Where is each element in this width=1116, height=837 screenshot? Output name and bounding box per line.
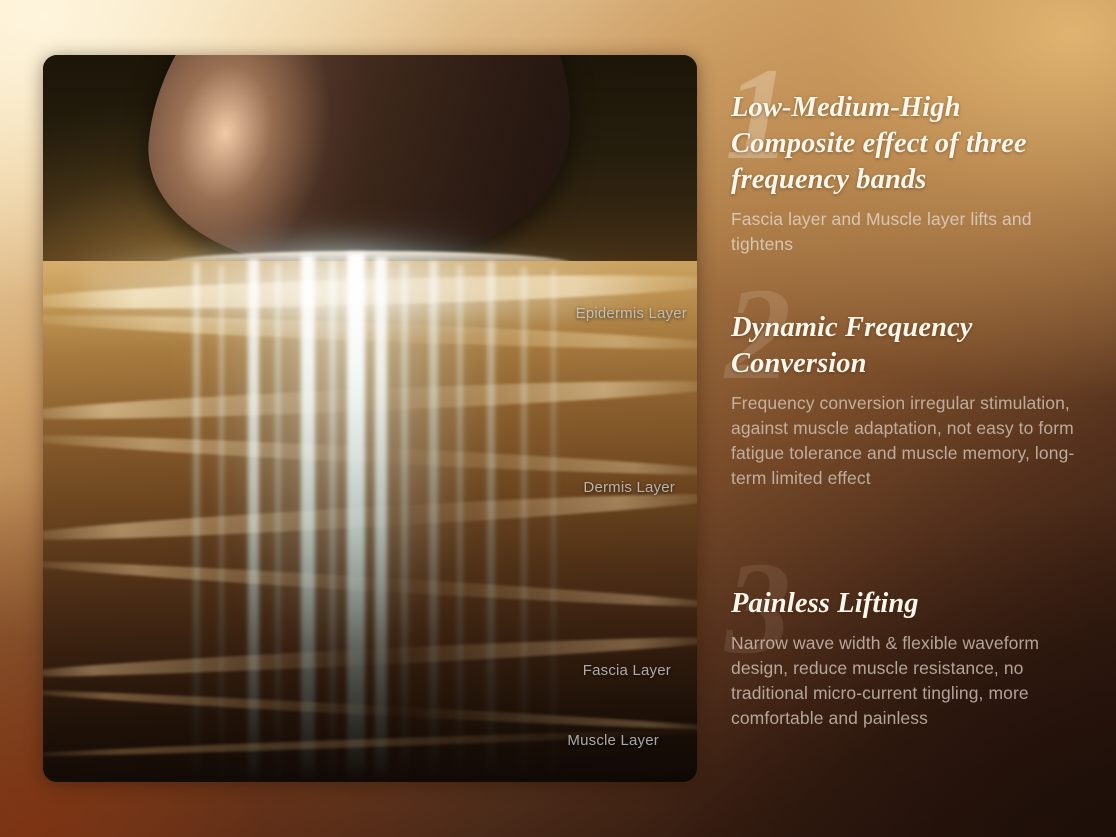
- feature-body-3: Narrow wave width & flexible waveform de…: [731, 631, 1061, 731]
- layer-label-epidermis: Epidermis Layer: [576, 305, 687, 322]
- skin-cross-section-illustration: Epidermis Layer Dermis Layer Fascia Laye…: [43, 55, 697, 782]
- layer-label-fascia: Fascia Layer: [583, 662, 671, 679]
- feature-item-3: 3 Painless Lifting Narrow wave width & f…: [731, 586, 1077, 731]
- feature-item-2: 2 Dynamic Frequency Conversion Frequency…: [731, 310, 1077, 491]
- feature-item-1: 1 Low-Medium-High Composite effect of th…: [731, 90, 1077, 257]
- feature-body-1: Fascia layer and Muscle layer lifts and …: [731, 207, 1077, 257]
- feature-list: 1 Low-Medium-High Composite effect of th…: [731, 0, 1091, 837]
- feature-title-2: Dynamic Frequency Conversion: [731, 310, 1077, 382]
- layer-label-dermis: Dermis Layer: [583, 479, 675, 496]
- feature-title-1: Low-Medium-High Composite effect of thre…: [731, 90, 1077, 198]
- feature-title-3: Painless Lifting: [731, 586, 1077, 622]
- layer-label-muscle: Muscle Layer: [567, 732, 659, 749]
- feature-slide: Epidermis Layer Dermis Layer Fascia Laye…: [0, 0, 1116, 837]
- feature-body-2: Frequency conversion irregular stimulati…: [731, 391, 1087, 491]
